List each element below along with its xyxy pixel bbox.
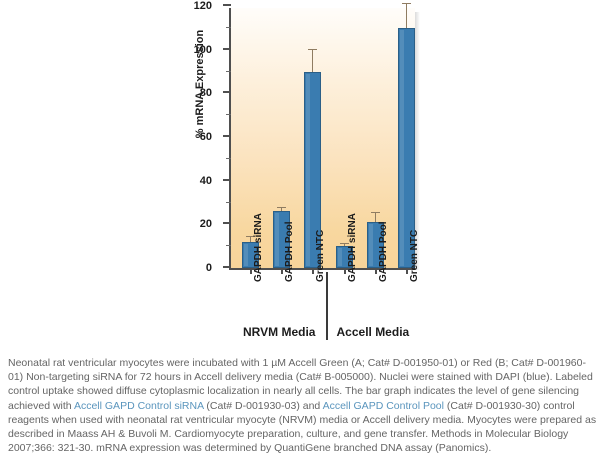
x-axis-category-label: GAPDH Pool <box>284 221 295 282</box>
error-bar <box>281 208 282 211</box>
y-axis-minor-tick <box>226 245 231 246</box>
error-bar-cap <box>277 207 286 208</box>
error-bar <box>250 237 251 241</box>
x-axis-tick <box>344 268 346 274</box>
error-bar-cap <box>371 212 380 213</box>
x-axis-category-label: GAPDH siRNA <box>347 213 358 282</box>
y-axis-tick: 80 <box>223 91 231 93</box>
y-axis-tick-label: 80 <box>200 87 212 99</box>
caption-segment-2: (Cat# D-001930-03) and <box>204 400 323 412</box>
error-bar <box>344 244 345 246</box>
x-axis-tick <box>281 268 283 274</box>
error-bar-cap <box>308 49 317 50</box>
x-axis-category-label: GAPDH siRNA <box>253 213 264 282</box>
group-label-nrvm-media: NRVM Media <box>243 325 315 339</box>
x-axis-tick <box>250 268 252 274</box>
error-bar <box>406 4 407 28</box>
y-axis-minor-tick <box>226 71 231 72</box>
figure-panel: % mRNA Expression 020406080100120 NRVM M… <box>0 0 608 350</box>
x-axis-category-label: Green NTC <box>409 230 420 282</box>
bar-highlight <box>369 224 373 266</box>
group-separator <box>326 272 328 340</box>
error-bar <box>375 213 376 222</box>
x-axis-tick <box>312 268 314 274</box>
bar-highlight <box>400 30 404 266</box>
y-axis-minor-tick <box>226 114 231 115</box>
bar-highlight <box>338 248 342 266</box>
bar-highlight <box>306 74 310 267</box>
y-axis-tick-label: 100 <box>194 44 212 56</box>
x-axis-category-label: Green NTC <box>315 230 326 282</box>
bar-highlight <box>244 244 248 266</box>
x-axis-category-label: GAPDH Pool <box>378 221 389 282</box>
y-axis-tick: 20 <box>223 222 231 224</box>
y-axis-tick-label: 40 <box>200 175 212 187</box>
y-axis-tick-label: 0 <box>206 262 212 274</box>
x-axis-tick <box>375 268 377 274</box>
group-label-accell-media: Accell Media <box>337 325 410 339</box>
y-axis-tick: 60 <box>223 135 231 137</box>
y-axis-tick: 120 <box>223 4 231 6</box>
error-bar-cap <box>402 3 411 4</box>
y-axis-minor-tick <box>226 27 231 28</box>
error-bar <box>312 50 313 72</box>
x-axis-tick <box>406 268 408 274</box>
bar-highlight <box>275 213 279 266</box>
y-axis-minor-tick <box>226 158 231 159</box>
y-axis-tick-label: 60 <box>200 131 212 143</box>
y-axis-tick-label: 20 <box>200 218 212 230</box>
figure-caption: Neonatal rat ventricular myocytes were i… <box>8 356 600 455</box>
link-accell-gapd-control-sirna[interactable]: Accell GAPD Control siRNA <box>74 400 204 412</box>
y-axis-tick: 0 <box>223 266 231 268</box>
y-axis-minor-tick <box>226 202 231 203</box>
y-axis-tick-label: 120 <box>194 0 212 12</box>
bar-chart-figure: % mRNA Expression 020406080100120 NRVM M… <box>150 0 435 350</box>
y-axis-tick: 40 <box>223 179 231 181</box>
link-accell-gapd-control-pool[interactable]: Accell GAPD Control Pool <box>323 400 444 412</box>
y-axis-tick: 100 <box>223 48 231 50</box>
